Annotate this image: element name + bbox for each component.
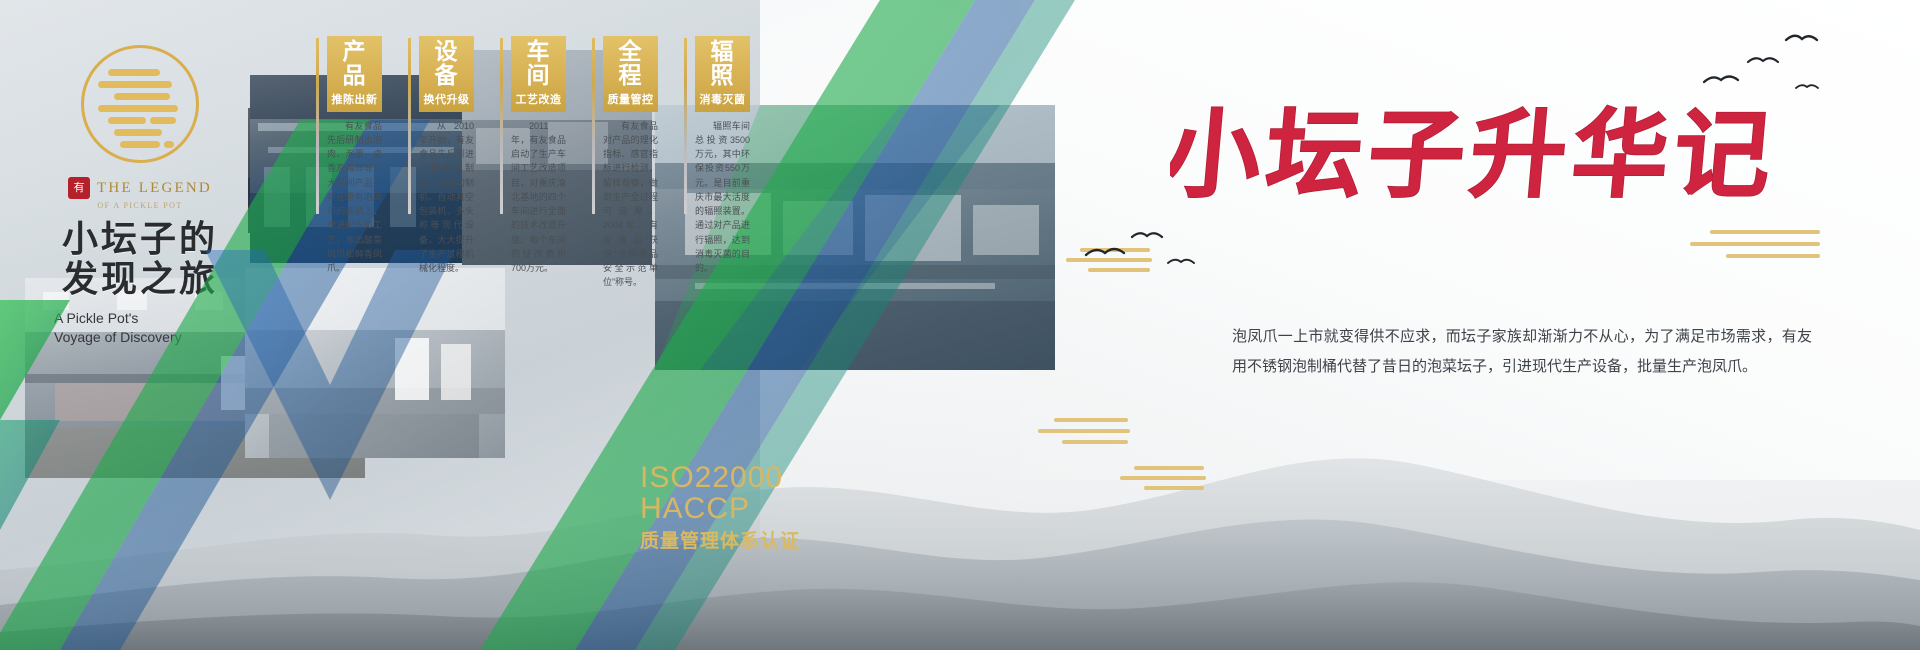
card-badge: 辐照 消毒灭菌 [695,36,750,112]
card-subtitle: 换代升级 [423,91,470,107]
card-title: 产品 [331,40,378,89]
process-card-irradiation[interactable]: 辐照 消毒灭菌 辐照车间总投资3500万元，其中环保投资550万元。是目前重庆市… [684,36,750,289]
card-title: 车间 [515,40,562,89]
certification-label: 质量管理体系认证 [640,526,800,553]
hero-title-calligraphy: 小坛子升华记 [1170,92,1810,222]
brand-title-en: A Pickle Pot's Voyage of Discovery [40,309,240,347]
card-body: 从2010年开始，有友食品先后引进了连续煮制机、自动切制机、自动真空包装机、多头… [419,119,474,275]
certification-block: ISO22000 HACCP 质量管理体系认证 [640,462,800,553]
card-body: 辐照车间总投资3500万元，其中环保投资550万元。是目前重庆市最大活度的辐照装… [695,119,750,275]
process-card-equipment[interactable]: 设备 换代升级 从2010年开始，有友食品先后引进了连续煮制机、自动切制机、自动… [408,36,474,289]
brand-legend-en: THE LEGEND [97,180,212,197]
cloud-motif-right [1680,230,1820,270]
cloud-motif-lower [1036,418,1132,452]
card-title: 全程 [607,40,654,89]
svg-text:小坛子升华记: 小坛子升华记 [1170,99,1781,211]
pickle-pot-seal-icon [81,45,199,163]
card-badge: 设备 换代升级 [419,36,474,112]
card-body: 有友食品对产品的理化指标、感官指标进行检测，留样观察，做到生产全过程可追溯。20… [603,119,658,290]
brand-logo-block: 有 THE LEGEND OF A PICKLE POT 小坛子的 发现之旅 A… [40,45,240,346]
card-body: 有友食品先后研制出泡肉、泡蛋、卤香及海鲜等几大系列产品，并在原有泡凤爪的基础上，… [327,119,382,275]
brand-title-cn: 小坛子的 发现之旅 [40,220,240,301]
card-body: 2011年，有友食品启动了生产车间工艺改造项目，对重庆渝北基地的四个车间进行全面… [511,119,566,275]
photo-production-line [245,268,505,458]
card-subtitle: 工艺改造 [515,91,562,107]
cloud-motif-bottom [1120,466,1210,498]
brand-title-en-line1: A Pickle Pot's [54,309,240,328]
certification-standard-haccp: HACCP [640,493,800,524]
card-subtitle: 消毒灭菌 [699,91,746,107]
card-title: 辐照 [699,40,746,89]
hero-paragraph: 泡凤爪一上市就变得供不应求，而坛子家族却渐渐力不从心，为了满足市场需求，有友用不… [1232,322,1812,382]
process-card-product[interactable]: 产品 推陈出新 有友食品先后研制出泡肉、泡蛋、卤香及海鲜等几大系列产品，并在原有… [316,36,382,289]
hero-title: 小坛子升华记 [1170,92,1810,222]
brand-legend-row: 有 THE LEGEND [40,177,240,199]
card-badge: 产品 推陈出新 [327,36,382,112]
flying-birds-left [1080,215,1210,285]
card-subtitle: 推陈出新 [331,91,378,107]
card-subtitle: 质量管控 [607,91,654,107]
brand-legend-sub: OF A PICKLE POT [40,201,240,210]
process-card-workshop[interactable]: 车间 工艺改造 2011年，有友食品启动了生产车间工艺改造项目，对重庆渝北基地的… [500,36,566,289]
brand-title-cn-line2: 发现之旅 [40,260,240,300]
certification-standard-iso: ISO22000 [640,462,800,493]
brand-title-en-line2: Voyage of Discovery [54,328,240,347]
brand-title-cn-line1: 小坛子的 [40,220,240,260]
poster-canvas: 有 THE LEGEND OF A PICKLE POT 小坛子的 发现之旅 A… [0,0,1920,650]
process-card-quality[interactable]: 全程 质量管控 有友食品对产品的理化指标、感官指标进行检测，留样观察，做到生产全… [592,36,658,289]
card-badge: 全程 质量管控 [603,36,658,112]
process-card-list: 产品 推陈出新 有友食品先后研制出泡肉、泡蛋、卤香及海鲜等几大系列产品，并在原有… [316,36,750,289]
card-title: 设备 [423,40,470,89]
brand-stamp-icon: 有 [68,177,90,199]
card-badge: 车间 工艺改造 [511,36,566,112]
